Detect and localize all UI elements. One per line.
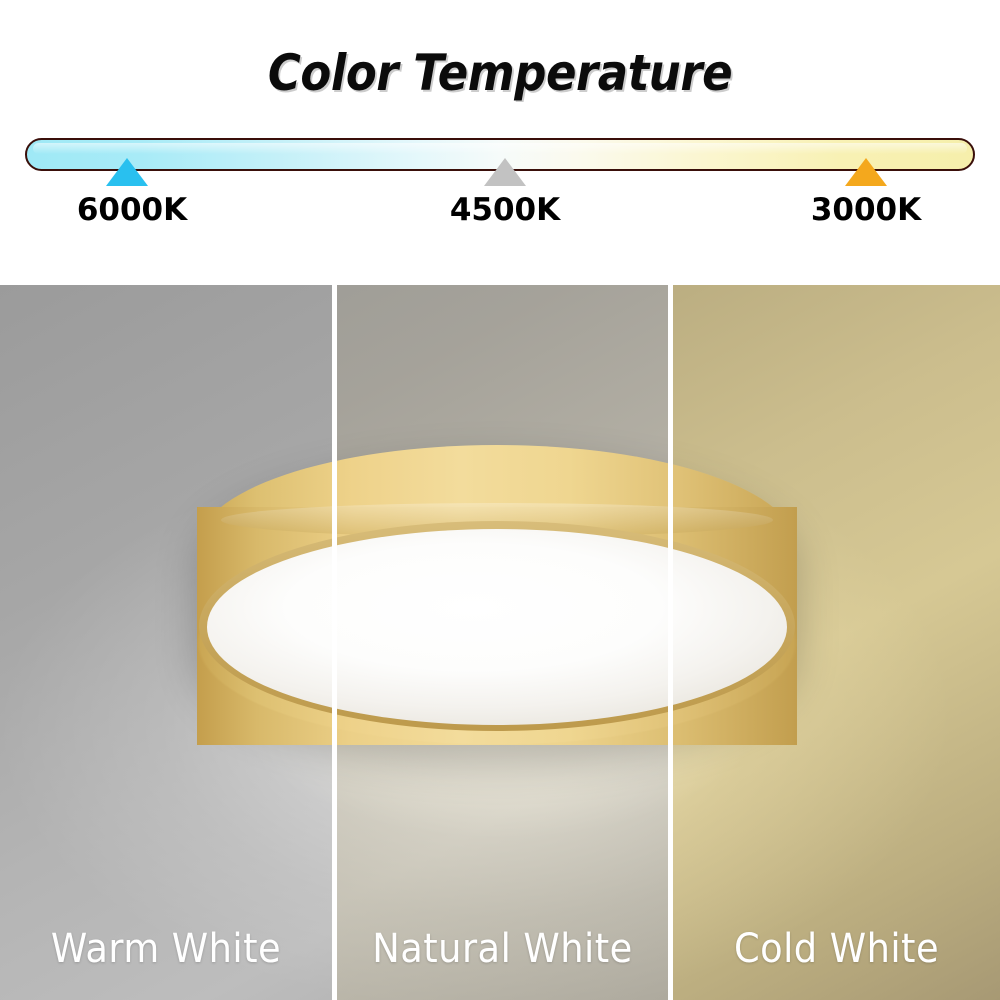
panel-natural-white: Natural White [337,285,668,1000]
kelvin-label-3000k: 3000K [746,192,986,228]
ceiling-lamp [337,445,668,745]
triangle-up-icon-6000k [106,158,148,186]
triangle-up-icon-3000k [845,158,887,186]
scene-warm-white [0,285,332,1000]
product-photo-strip: Warm White Natural White [0,285,1000,1000]
scene-cold-white [673,285,1000,1000]
panel-warm-white: Warm White [0,285,332,1000]
page-title: Color Temperature [50,44,950,102]
header-section: Color Temperature 6000K 4500K 3000K [0,0,1000,285]
ceiling-lamp [673,445,797,745]
kelvin-label-6000k: 6000K [12,192,252,228]
panel-caption-natural-white: Natural White [350,926,655,972]
gradient-gloss-highlight [33,143,967,154]
panel-cold-white: Cold White [673,285,1000,1000]
kelvin-label-4500k: 4500K [385,192,625,228]
panel-caption-warm-white: Warm White [13,926,318,972]
panel-divider-right [668,285,673,1000]
scene-natural-white [337,285,668,1000]
panel-divider-left [332,285,337,1000]
ceiling-lamp [197,445,332,745]
triangle-up-icon-4500k [484,158,526,186]
lamp-white-diffuser [337,529,668,725]
panel-caption-cold-white: Cold White [686,926,987,972]
color-temperature-infographic: Color Temperature 6000K 4500K 3000K [0,0,1000,1000]
